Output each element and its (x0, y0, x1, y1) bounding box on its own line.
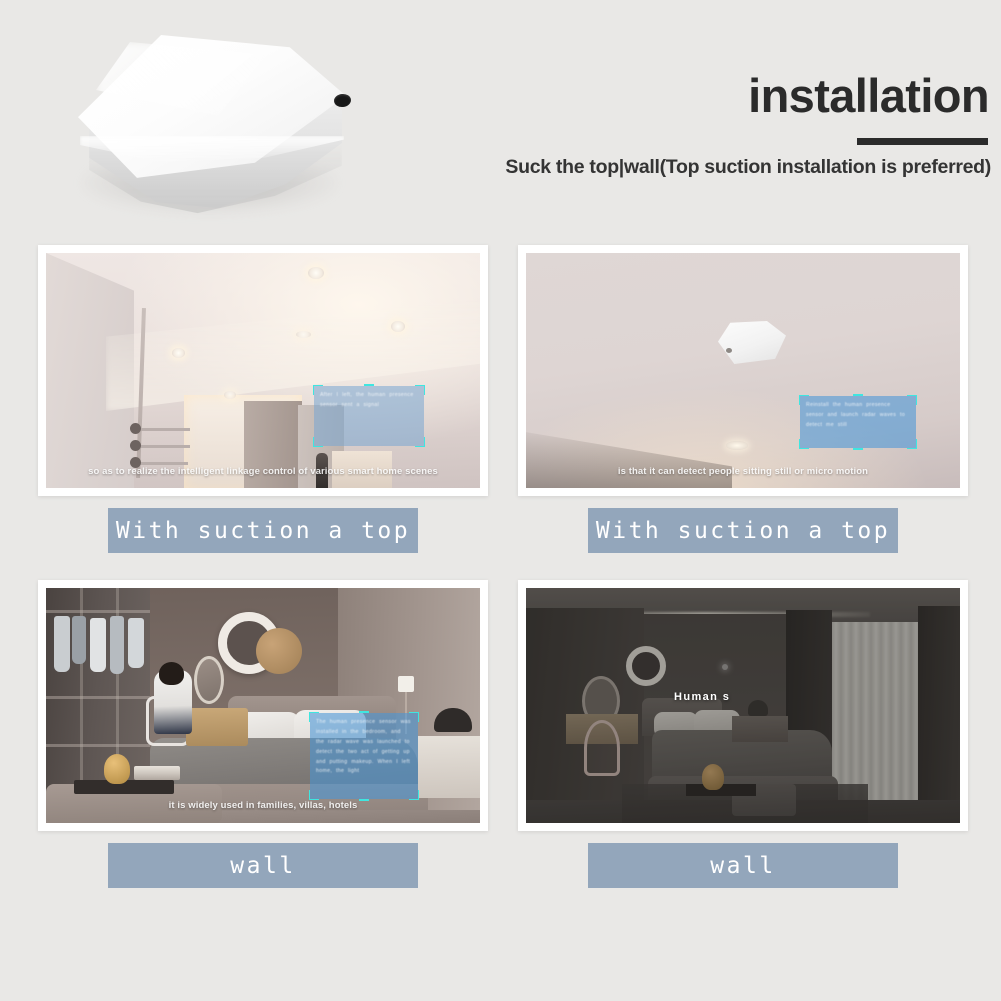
ceiling-downlight (391, 321, 405, 332)
gold-figurine (104, 754, 130, 784)
hanging-garment (90, 618, 106, 672)
photo-image-ceiling-hallway: After I left, the human presence sensor … (46, 253, 480, 488)
corner-marker-icon (799, 439, 809, 449)
corner-marker-icon (415, 437, 425, 447)
wardrobe-shelf (46, 610, 150, 613)
hanging-garment (110, 616, 124, 674)
caption-bar-wall: wall (588, 843, 898, 888)
hanging-garment (54, 616, 70, 672)
hanging-garment (72, 616, 86, 664)
caption-text: With suction a top (116, 518, 410, 544)
ceiling-downlight (224, 391, 236, 399)
wardrobe-shelf (46, 744, 150, 747)
nightstand (418, 736, 480, 798)
photo-frame: Human s (518, 580, 968, 831)
caption-bar-with-suction-a-top: With suction a top (108, 508, 418, 553)
photo-frame: The human presence sensor was installed … (38, 580, 488, 831)
detection-overlay-box: Reinstall the human presence sensor and … (800, 396, 916, 448)
page-title: installation (748, 72, 989, 119)
ceiling-downlight (308, 267, 324, 279)
corner-marker-icon (853, 448, 863, 450)
overlay-text-human-sensor: Human s (674, 691, 730, 703)
stacked-books (134, 766, 180, 780)
caption-bar-with-suction-a-top: With suction a top (588, 508, 898, 553)
corner-marker-icon (313, 437, 323, 447)
night-dim-overlay (526, 588, 960, 823)
oval-mirror (194, 656, 224, 704)
corner-marker-icon (364, 384, 374, 386)
wardrobe-shelf (46, 696, 150, 699)
corner-marker-icon (853, 394, 863, 396)
ceiling-downlight (172, 348, 185, 358)
ladder-knob (130, 440, 141, 451)
sensor-led-icon (726, 348, 732, 353)
overlay-text: The human presence sensor was installed … (316, 718, 412, 777)
photo-image-bedroom-dark: Human s (526, 588, 960, 823)
corner-marker-icon (409, 790, 419, 800)
overlay-text: After I left, the human presence sensor … (320, 391, 418, 411)
corner-marker-icon (907, 439, 917, 449)
floor-lamp-shade (398, 676, 414, 692)
title-underline-rule (857, 138, 988, 145)
corner-marker-icon (359, 711, 369, 713)
header-subtitle: Suck the top|wall(Top suction installati… (505, 156, 991, 179)
photo-frame: After I left, the human presence sensor … (38, 245, 488, 496)
person-head (159, 662, 184, 685)
photo-image-bedroom-bright: The human presence sensor was installed … (46, 588, 480, 823)
vanity-table (186, 708, 248, 746)
ladder-knob (130, 423, 141, 434)
overlay-text: Reinstall the human presence sensor and … (806, 401, 910, 431)
caption-text: wall (710, 853, 775, 879)
photo-subtitle: is that it can detect people sitting sti… (526, 466, 960, 477)
ladder-rail (134, 428, 190, 431)
wall-disc-decor (256, 628, 302, 674)
detection-overlay-box: The human presence sensor was installed … (310, 713, 418, 799)
product-photo-sensor (62, 24, 362, 234)
ceiling-downlight (726, 441, 748, 450)
photo-frame: Reinstall the human presence sensor and … (518, 245, 968, 496)
hanging-garment (128, 618, 144, 668)
photo-subtitle: it is widely used in families, villas, h… (46, 800, 480, 811)
ladder-rail (134, 445, 190, 448)
photo-subtitle: so as to realize the intelligent linkage… (46, 466, 480, 477)
led-indicator-icon (333, 93, 351, 108)
header-area: installation Suck the top|wall(Top sucti… (0, 0, 1001, 235)
detection-overlay-box: After I left, the human presence sensor … (314, 386, 424, 446)
caption-text: wall (230, 853, 295, 879)
ladder-rail (134, 462, 188, 465)
ceiling-downlight (296, 331, 311, 338)
photo-image-ceiling-sensor: Reinstall the human presence sensor and … (526, 253, 960, 488)
corner-marker-icon (309, 790, 319, 800)
caption-bar-wall: wall (108, 843, 418, 888)
caption-text: With suction a top (596, 518, 890, 544)
